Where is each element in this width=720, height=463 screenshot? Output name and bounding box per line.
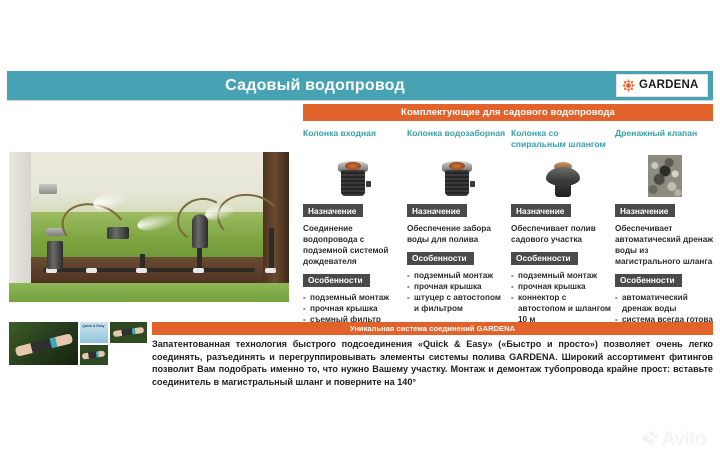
feature-item: автоматический дренаж воды: [615, 292, 715, 314]
hero-fitting-2: [86, 268, 97, 273]
purpose-text: Обеспечивает автоматический дренаж воды …: [615, 223, 715, 267]
product-title: Колонка водозаборная: [407, 128, 507, 150]
product-columns: Колонка входная Назначение Соединение во…: [303, 128, 715, 313]
feature-item: штуцер с автостопом и фильтром: [407, 292, 507, 314]
feature-item: подземный монтаж: [407, 270, 507, 281]
quick-easy-logo-thumb: Quick & Easy: [80, 322, 108, 343]
purpose-badge: Назначение: [511, 204, 571, 217]
gardena-brand-text: GARDENA: [639, 80, 699, 92]
hero-fitting-5: [265, 268, 276, 273]
purpose-badge: Назначение: [303, 204, 363, 217]
drainage-valve-gravel-photo: [615, 151, 715, 197]
hero-main-pipe: [43, 268, 255, 272]
avito-watermark-text: Avito: [662, 430, 706, 449]
purpose-badge: Назначение: [407, 204, 467, 217]
hero-inlet-column: [47, 241, 63, 269]
purpose-text: Обеспечение забора воды для полива: [407, 223, 507, 245]
purpose-badge: Назначение: [615, 204, 675, 217]
hero-wall-tap: [39, 184, 57, 194]
hero-wall: [9, 152, 31, 283]
product-column-intake: Колонка водозаборная Назначение Обеспече…: [407, 128, 507, 314]
product-title: Колонка входная: [303, 128, 403, 150]
components-subtitle-label: Комплектующие для садового водопровода: [303, 104, 713, 121]
connector-detail-photo-1: [110, 322, 147, 343]
product-column-inlet: Колонка входная Назначение Соединение во…: [303, 128, 403, 325]
product-title: Дренажный клапан: [615, 128, 715, 150]
purpose-text: Обеспечивает полив садового участка: [511, 223, 615, 245]
feature-item: прочная крышка: [407, 281, 507, 292]
product-column-drainage: Дренажный клапан Назначение Обеспечивает…: [615, 128, 715, 336]
features-badge: Особенности: [615, 274, 682, 287]
connector-detail-photo-2: [80, 345, 108, 366]
unique-system-description: Запатентованная технология быстрого подс…: [152, 338, 713, 388]
purpose-text: Соединение водопровода с подземной систе…: [303, 223, 403, 267]
feature-item: прочная крышка: [303, 303, 403, 314]
page-header-bar: Садовый водопровод GARDENA: [7, 71, 713, 100]
feature-item: подземный монтаж: [303, 292, 403, 303]
quick-easy-label: Quick & Easy: [82, 324, 104, 328]
garden-waterline-diagram-image: [9, 152, 289, 302]
feature-item: коннектор с автостопом и шлангом 10 м: [511, 292, 615, 325]
hero-fitting-3: [136, 268, 147, 273]
gardena-flower-icon: [621, 78, 636, 93]
features-list: подземный монтаж прочная крышка съемный …: [303, 292, 403, 325]
feature-item: подземный монтаж: [511, 270, 615, 281]
avito-watermark: Avito: [642, 430, 706, 449]
features-badge: Особенности: [303, 274, 370, 287]
product-title: Колонка со спиральным шлангом: [511, 128, 615, 150]
features-list: подземный монтаж прочная крышка штуцер с…: [407, 270, 507, 314]
product-column-spiral: Колонка со спиральным шлангом Назначение…: [511, 128, 615, 325]
quick-easy-connect-photo: [9, 322, 78, 365]
water-intake-column-product-photo: [407, 151, 507, 197]
features-badge: Особенности: [407, 252, 474, 265]
feature-item: прочная крышка: [511, 281, 615, 292]
avito-dots-icon: [642, 431, 659, 448]
hero-fitting-4: [193, 268, 204, 273]
hero-grass-front: [9, 283, 289, 303]
components-subtitle-bar: Комплектующие для садового водопровода: [303, 104, 713, 121]
features-badge: Особенности: [511, 252, 578, 265]
inlet-column-product-photo: [303, 151, 403, 197]
unique-system-banner-label: Уникальная система соединений GARDENA: [152, 322, 713, 335]
page-title: Садовый водопровод: [7, 77, 713, 95]
unique-system-banner: Уникальная система соединений GARDENA: [152, 322, 713, 335]
spiral-hose-column-product-photo: [511, 151, 615, 197]
features-list: подземный монтаж прочная крышка коннекто…: [511, 270, 615, 325]
quick-easy-thumbnails: Quick & Easy: [9, 322, 147, 365]
gardena-logo: GARDENA: [616, 74, 708, 97]
